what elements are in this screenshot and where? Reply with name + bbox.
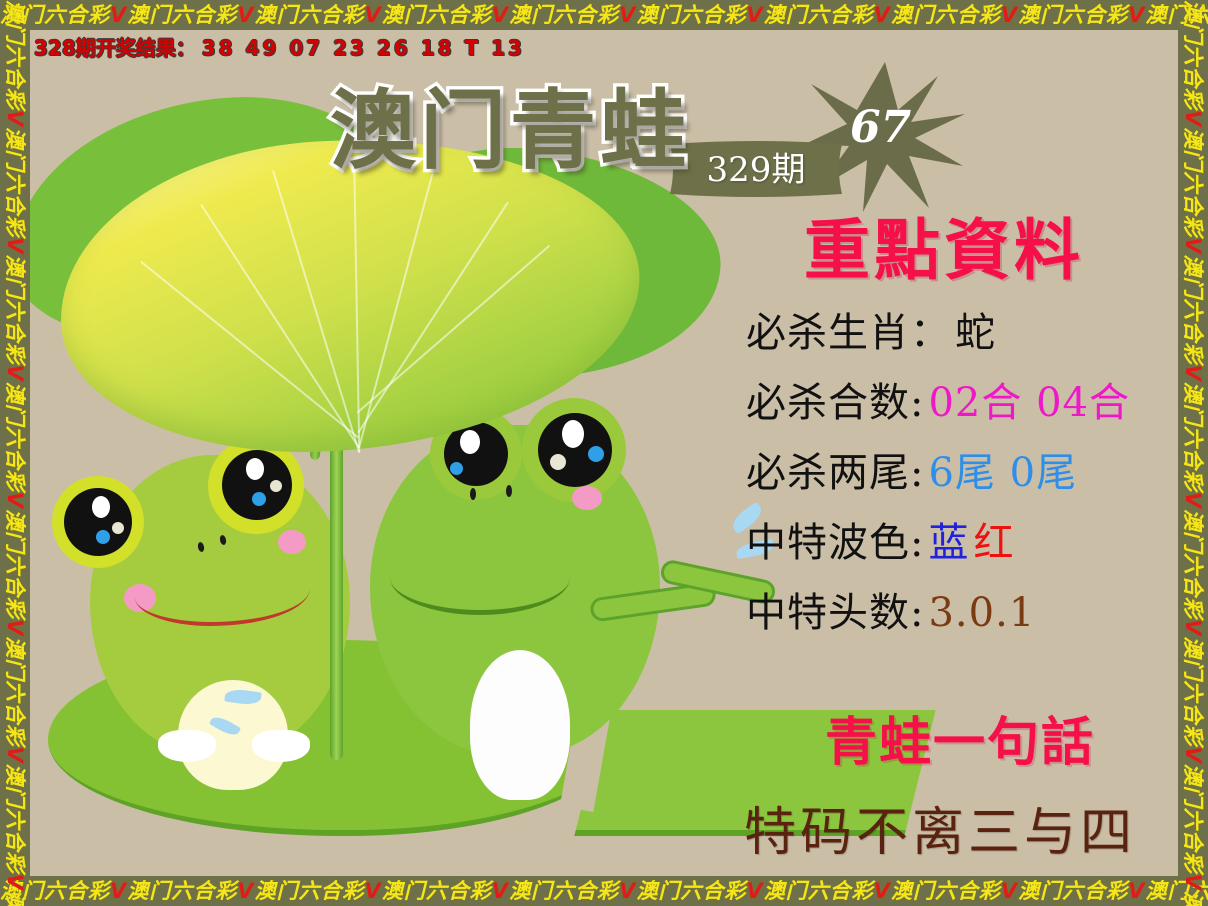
page-title: 澳门青蛙 xyxy=(330,60,690,185)
info-row-bose-value-red: 红 xyxy=(973,520,1014,566)
frog-right-nostril-right xyxy=(506,485,512,497)
marquee-bottom: 澳门六合彩V澳门六合彩V澳门六合彩V澳门六合彩V澳门六合彩V澳门六合彩V澳门六合… xyxy=(0,876,1208,906)
marquee-top: 澳门六合彩V澳门六合彩V澳门六合彩V澳门六合彩V澳门六合彩V澳门六合彩V澳门六合… xyxy=(0,0,1208,30)
info-row-toushu-label: 中特头数: xyxy=(746,590,924,636)
frog-left-foot-right xyxy=(252,730,310,762)
frog-left-eye-left-highlight xyxy=(92,496,110,518)
frog-right-nostril-left xyxy=(470,488,476,500)
info-row-heshu-value: 02合 04合 xyxy=(928,380,1130,426)
frog-right-eye-left-highlight xyxy=(460,430,480,454)
marquee-bottom-text: 澳门六合彩V澳门六合彩V澳门六合彩V澳门六合彩V澳门六合彩V澳门六合彩V澳门六合… xyxy=(0,879,1208,903)
info-row-liangwei: 必杀两尾:6尾 0尾 xyxy=(718,440,1170,498)
marquee-left-text: 澳门六合彩V澳门六合彩V澳门六合彩V澳门六合彩V澳门六合彩V澳门六合彩V澳门六合… xyxy=(0,0,30,906)
marquee-left: 澳门六合彩V澳门六合彩V澳门六合彩V澳门六合彩V澳门六合彩V澳门六合彩V澳门六合… xyxy=(0,0,30,906)
result-bar: 328期开奖结果：38 49 07 23 26 18 T 13 xyxy=(30,32,1178,58)
info-row-toushu-value: 3.0.1 xyxy=(928,590,1035,636)
marquee-right-text: 澳门六合彩V澳门六合彩V澳门六合彩V澳门六合彩V澳门六合彩V澳门六合彩V澳门六合… xyxy=(1178,0,1208,906)
frog-right-cheek xyxy=(572,486,602,510)
leaf-vein xyxy=(272,170,360,453)
frog-right-mouth xyxy=(390,540,570,615)
panel-heading: 重點資料 xyxy=(718,215,1170,288)
info-row-liangwei-value: 6尾 0尾 xyxy=(928,450,1077,496)
frog-right-eye-left-blue-dot xyxy=(450,462,463,475)
result-numbers: 38 49 07 23 26 18 T 13 xyxy=(202,36,525,60)
info-row-shengxiao-label: 必杀生肖： xyxy=(746,310,951,356)
frog-left-cheek-right xyxy=(278,530,306,554)
saying-heading: 青蛙一句話 xyxy=(760,700,1160,775)
result-prefix: 328期开奖结果： xyxy=(34,36,196,60)
info-row-liangwei-label: 必杀两尾: xyxy=(746,450,924,496)
leaf-vein xyxy=(358,167,435,448)
marquee-right: 澳门六合彩V澳门六合彩V澳门六合彩V澳门六合彩V澳门六合彩V澳门六合彩V澳门六合… xyxy=(1178,0,1208,906)
frog-left-eye-left-blue-dot xyxy=(96,530,110,544)
leaf-vein xyxy=(357,245,551,414)
frog-right-eye-right-highlight2 xyxy=(550,454,566,470)
frog-left-foot-left xyxy=(158,730,216,762)
info-row-bose-label: 中特波色: xyxy=(746,520,924,566)
frog-left-eye-right-blue-dot xyxy=(252,492,266,506)
info-row-bose: 中特波色:蓝红 xyxy=(718,510,1170,568)
frog-right-eye-right-highlight xyxy=(562,420,584,448)
issue-label: 329期 xyxy=(676,146,836,194)
poster-canvas: 328期开奖结果：38 49 07 23 26 18 T 13 67 329期 … xyxy=(30,30,1178,876)
leaf-vein xyxy=(357,202,508,434)
frog-left-eye-right-highlight xyxy=(246,458,264,480)
frog-left-eye-right-highlight2 xyxy=(270,480,282,492)
poster-root: 澳门六合彩V澳门六合彩V澳门六合彩V澳门六合彩V澳门六合彩V澳门六合彩V澳门六合… xyxy=(0,0,1208,906)
leaf-vein xyxy=(200,204,360,448)
info-panel: 重點資料 必杀生肖：蛇 必杀合数:02合 04合 必杀两尾:6尾 0尾 中特波色… xyxy=(718,215,1170,638)
info-row-heshu-label: 必杀合数: xyxy=(746,380,924,426)
frog-right-eye-right-blue-dot xyxy=(588,446,604,462)
marquee-top-text: 澳门六合彩V澳门六合彩V澳门六合彩V澳门六合彩V澳门六合彩V澳门六合彩V澳门六合… xyxy=(0,3,1208,27)
info-row-heshu: 必杀合数:02合 04合 xyxy=(718,370,1170,428)
info-row-shengxiao: 必杀生肖：蛇 xyxy=(718,300,1170,358)
frog-right-belly xyxy=(470,650,570,800)
info-row-shengxiao-value: 蛇 xyxy=(955,310,996,356)
info-row-bose-value-blue: 蓝 xyxy=(928,520,969,566)
frog-left-eye-left-highlight2 xyxy=(112,522,124,534)
burst-number: 67 xyxy=(850,102,911,153)
saying-text: 特码不离三与四 xyxy=(680,790,1178,865)
info-row-toushu: 中特头数:3.0.1 xyxy=(718,580,1170,638)
